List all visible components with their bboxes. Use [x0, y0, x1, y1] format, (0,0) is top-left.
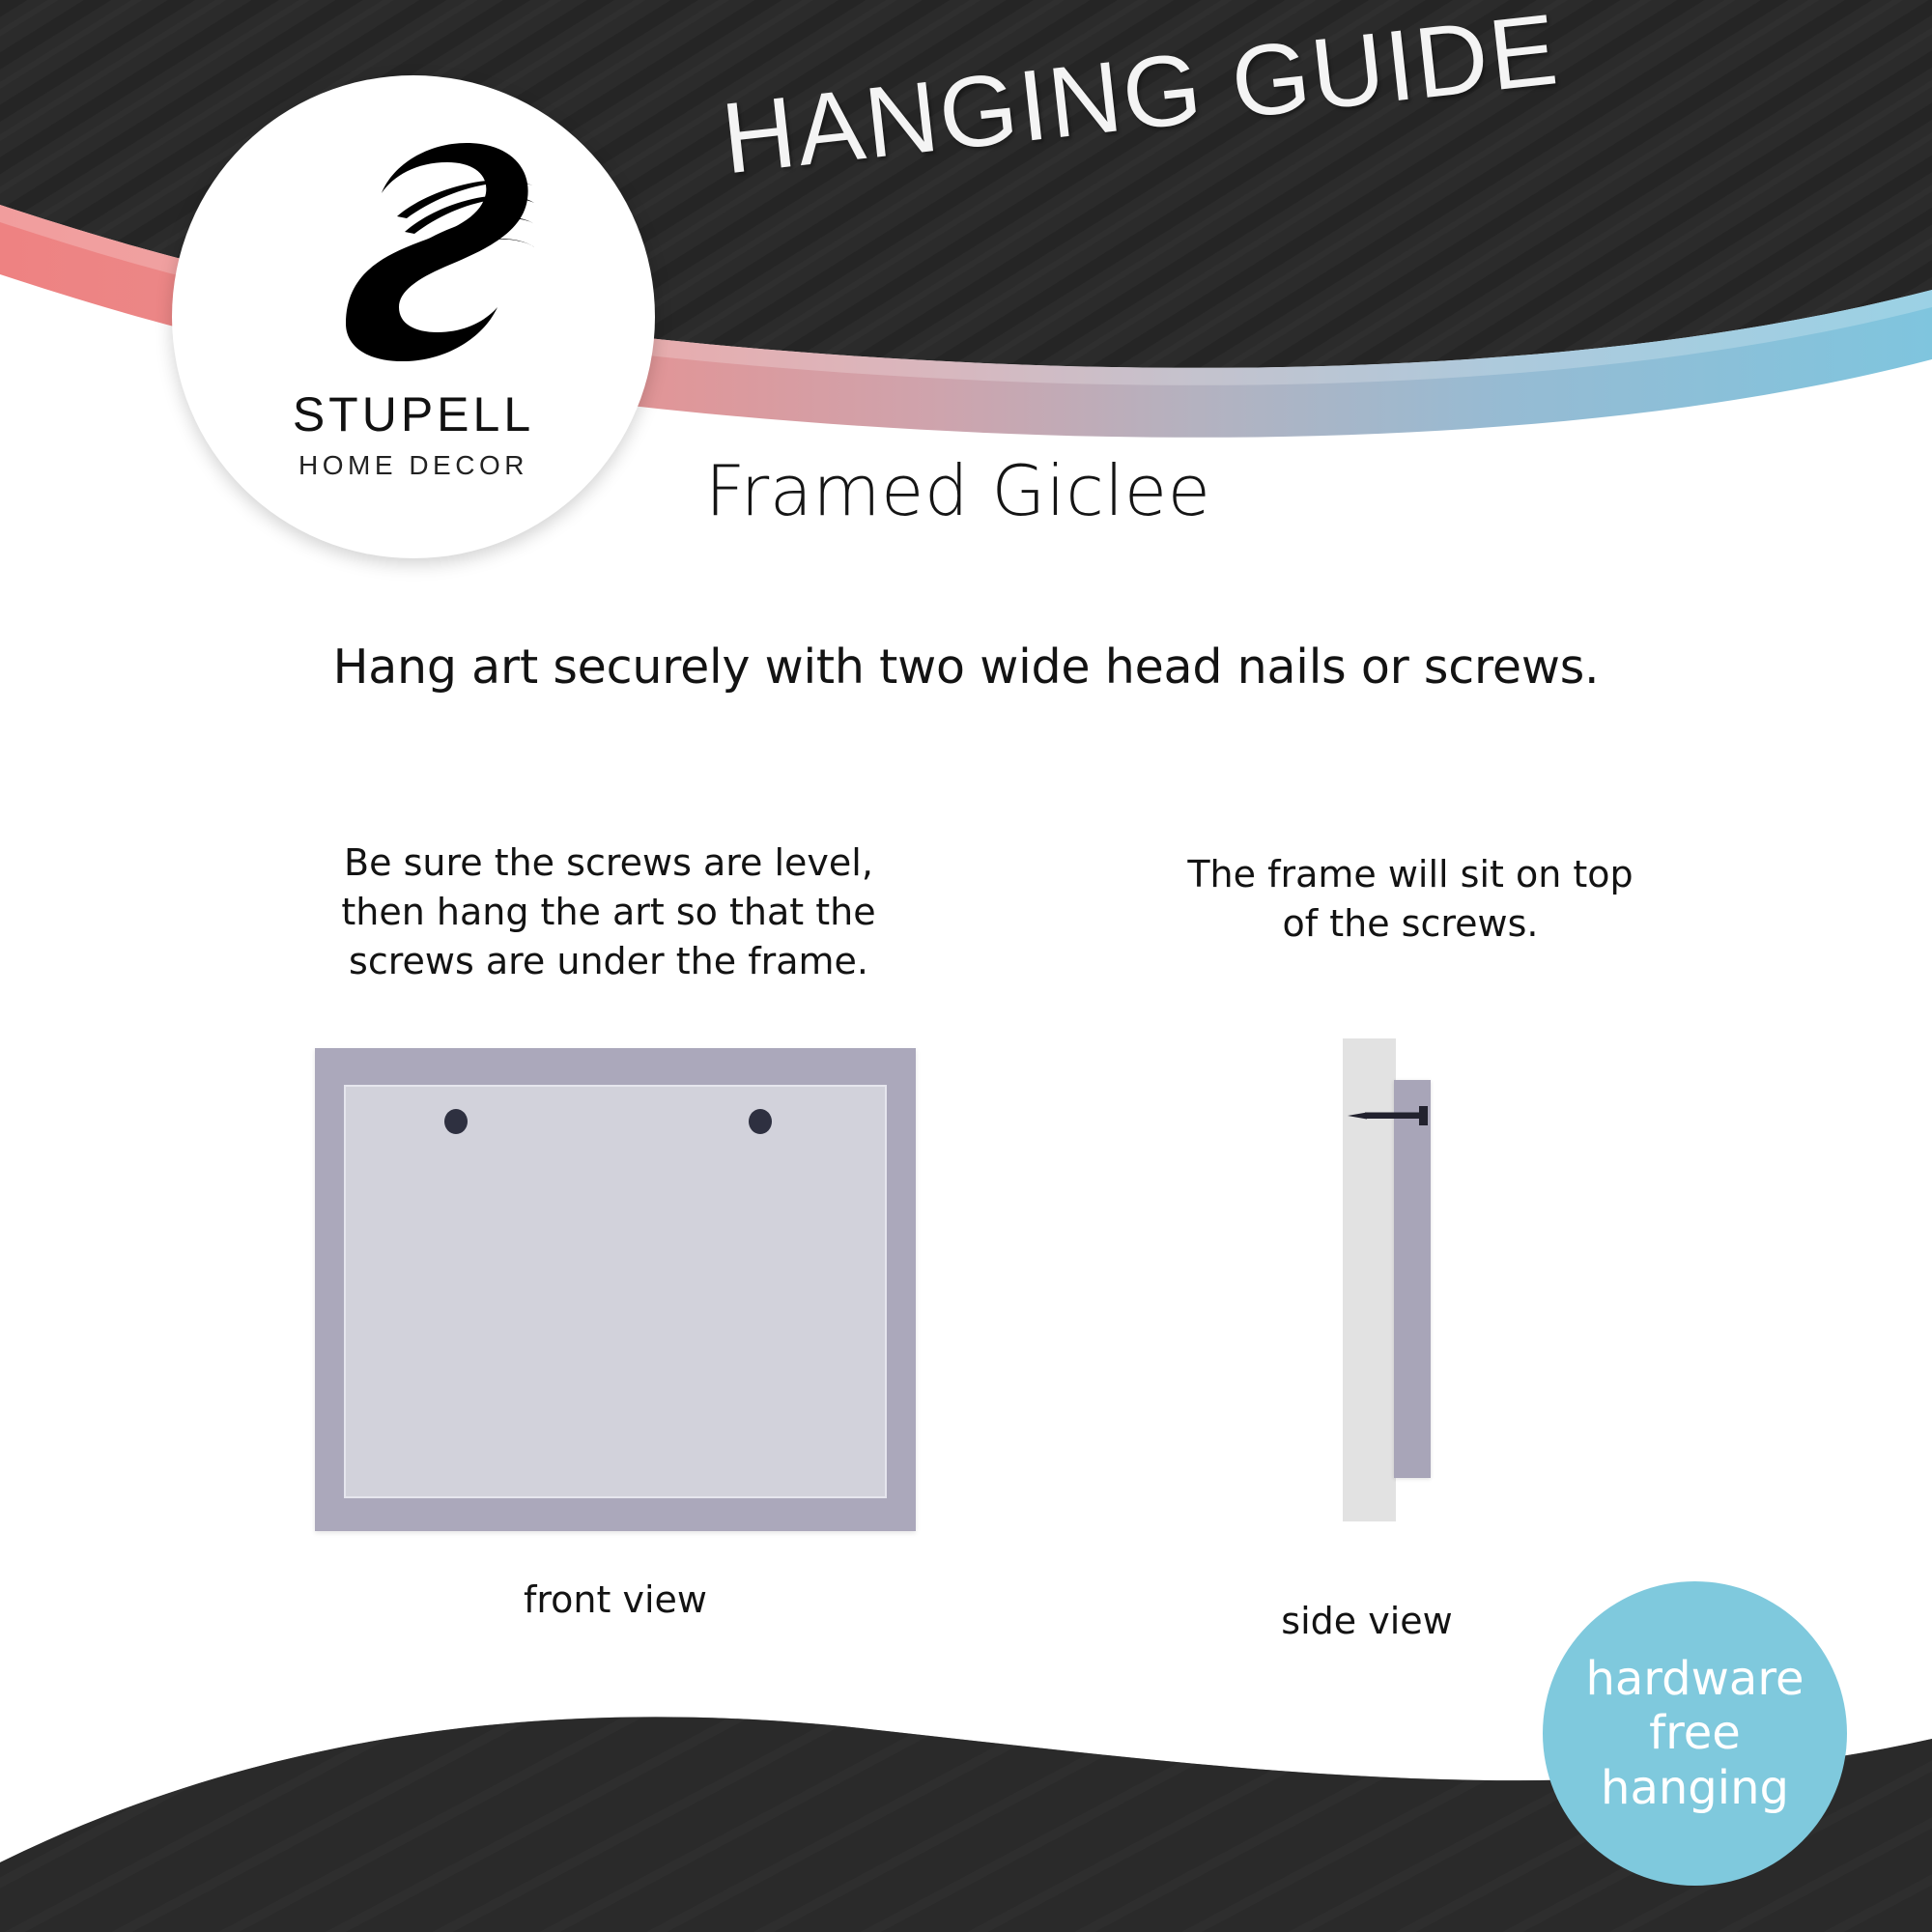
- badge-line-2: free: [1649, 1706, 1741, 1761]
- hanging-guide-page: STUPELL HOME DECOR HANGING GUIDE Framed …: [0, 0, 1932, 1932]
- product-type-heading: Framed Giclee: [705, 450, 1210, 531]
- badge-line-3: hanging: [1601, 1761, 1789, 1816]
- front-caption-line-1: Be sure the screws are level,: [241, 838, 976, 888]
- main-instruction-text: Hang art securely with two wide head nai…: [0, 639, 1932, 695]
- front-view-caption-block: Be sure the screws are level, then hang …: [241, 838, 976, 986]
- screw-dot-right: [749, 1109, 772, 1134]
- stupell-swoosh-icon: [293, 126, 534, 386]
- page-title: HANGING GUIDE: [717, 0, 1564, 197]
- logo-subwordmark: HOME DECOR: [298, 452, 528, 479]
- side-view-frame-profile: [1394, 1080, 1431, 1478]
- side-caption-line-1: The frame will sit on top: [1111, 850, 1710, 899]
- brand-logo-badge: STUPELL HOME DECOR: [172, 75, 655, 558]
- hardware-free-hanging-badge: hardware free hanging: [1543, 1581, 1847, 1886]
- side-view-caption-block: The frame will sit on top of the screws.: [1111, 850, 1710, 949]
- side-caption-line-2: of the screws.: [1111, 899, 1710, 949]
- front-caption-line-2: then hang the art so that the: [241, 888, 976, 937]
- front-caption-line-3: screws are under the frame.: [241, 937, 976, 986]
- badge-line-1: hardware: [1585, 1652, 1804, 1707]
- nail-icon: [1348, 1103, 1435, 1128]
- front-view-label: front view: [315, 1578, 916, 1621]
- screw-dot-left: [444, 1109, 468, 1134]
- side-view-label: side view: [1188, 1600, 1546, 1642]
- front-view-frame-illustration: [315, 1048, 916, 1531]
- logo-wordmark: STUPELL: [293, 390, 534, 439]
- front-view-mat-area: [344, 1085, 887, 1498]
